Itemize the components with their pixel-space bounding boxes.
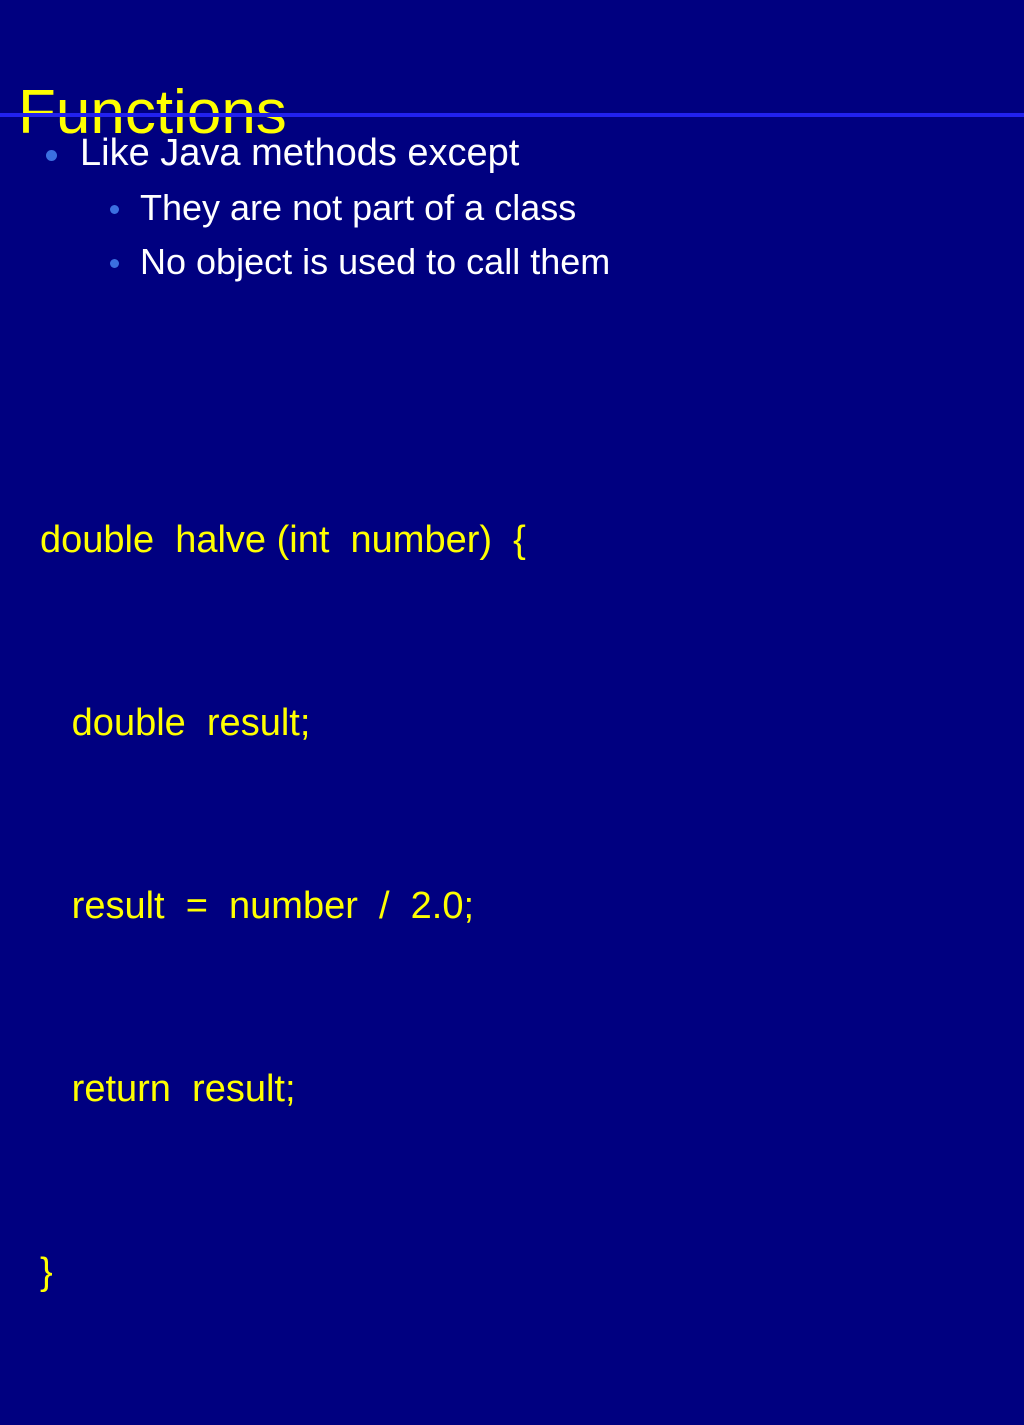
list-item: Like Java methods except — [0, 128, 1024, 178]
list-item: They are not part of a class — [0, 184, 1024, 232]
list-item-label: Like Java methods except — [80, 132, 519, 174]
bullet-dot-icon — [110, 259, 119, 268]
list-item: No object is used to call them — [0, 238, 1024, 286]
bullet-list: Like Java methods except They are not pa… — [0, 128, 1024, 292]
code-line: result = number / 2.0; — [40, 876, 1000, 937]
code-line: } — [40, 1242, 1000, 1303]
bullet-dot-icon — [110, 205, 119, 214]
code-line: double halve (int number) { — [40, 510, 1000, 571]
title-divider — [0, 113, 1024, 117]
code-line: return result; — [40, 1059, 1000, 1120]
code-block: double halve (int number) { double resul… — [40, 388, 1000, 1425]
slide: Functions Like Java methods except They … — [0, 0, 1024, 768]
list-item-label: No object is used to call them — [140, 241, 610, 282]
bullet-dot-icon — [46, 150, 57, 161]
list-item-label: They are not part of a class — [140, 187, 576, 228]
code-line: double result; — [40, 693, 1000, 754]
